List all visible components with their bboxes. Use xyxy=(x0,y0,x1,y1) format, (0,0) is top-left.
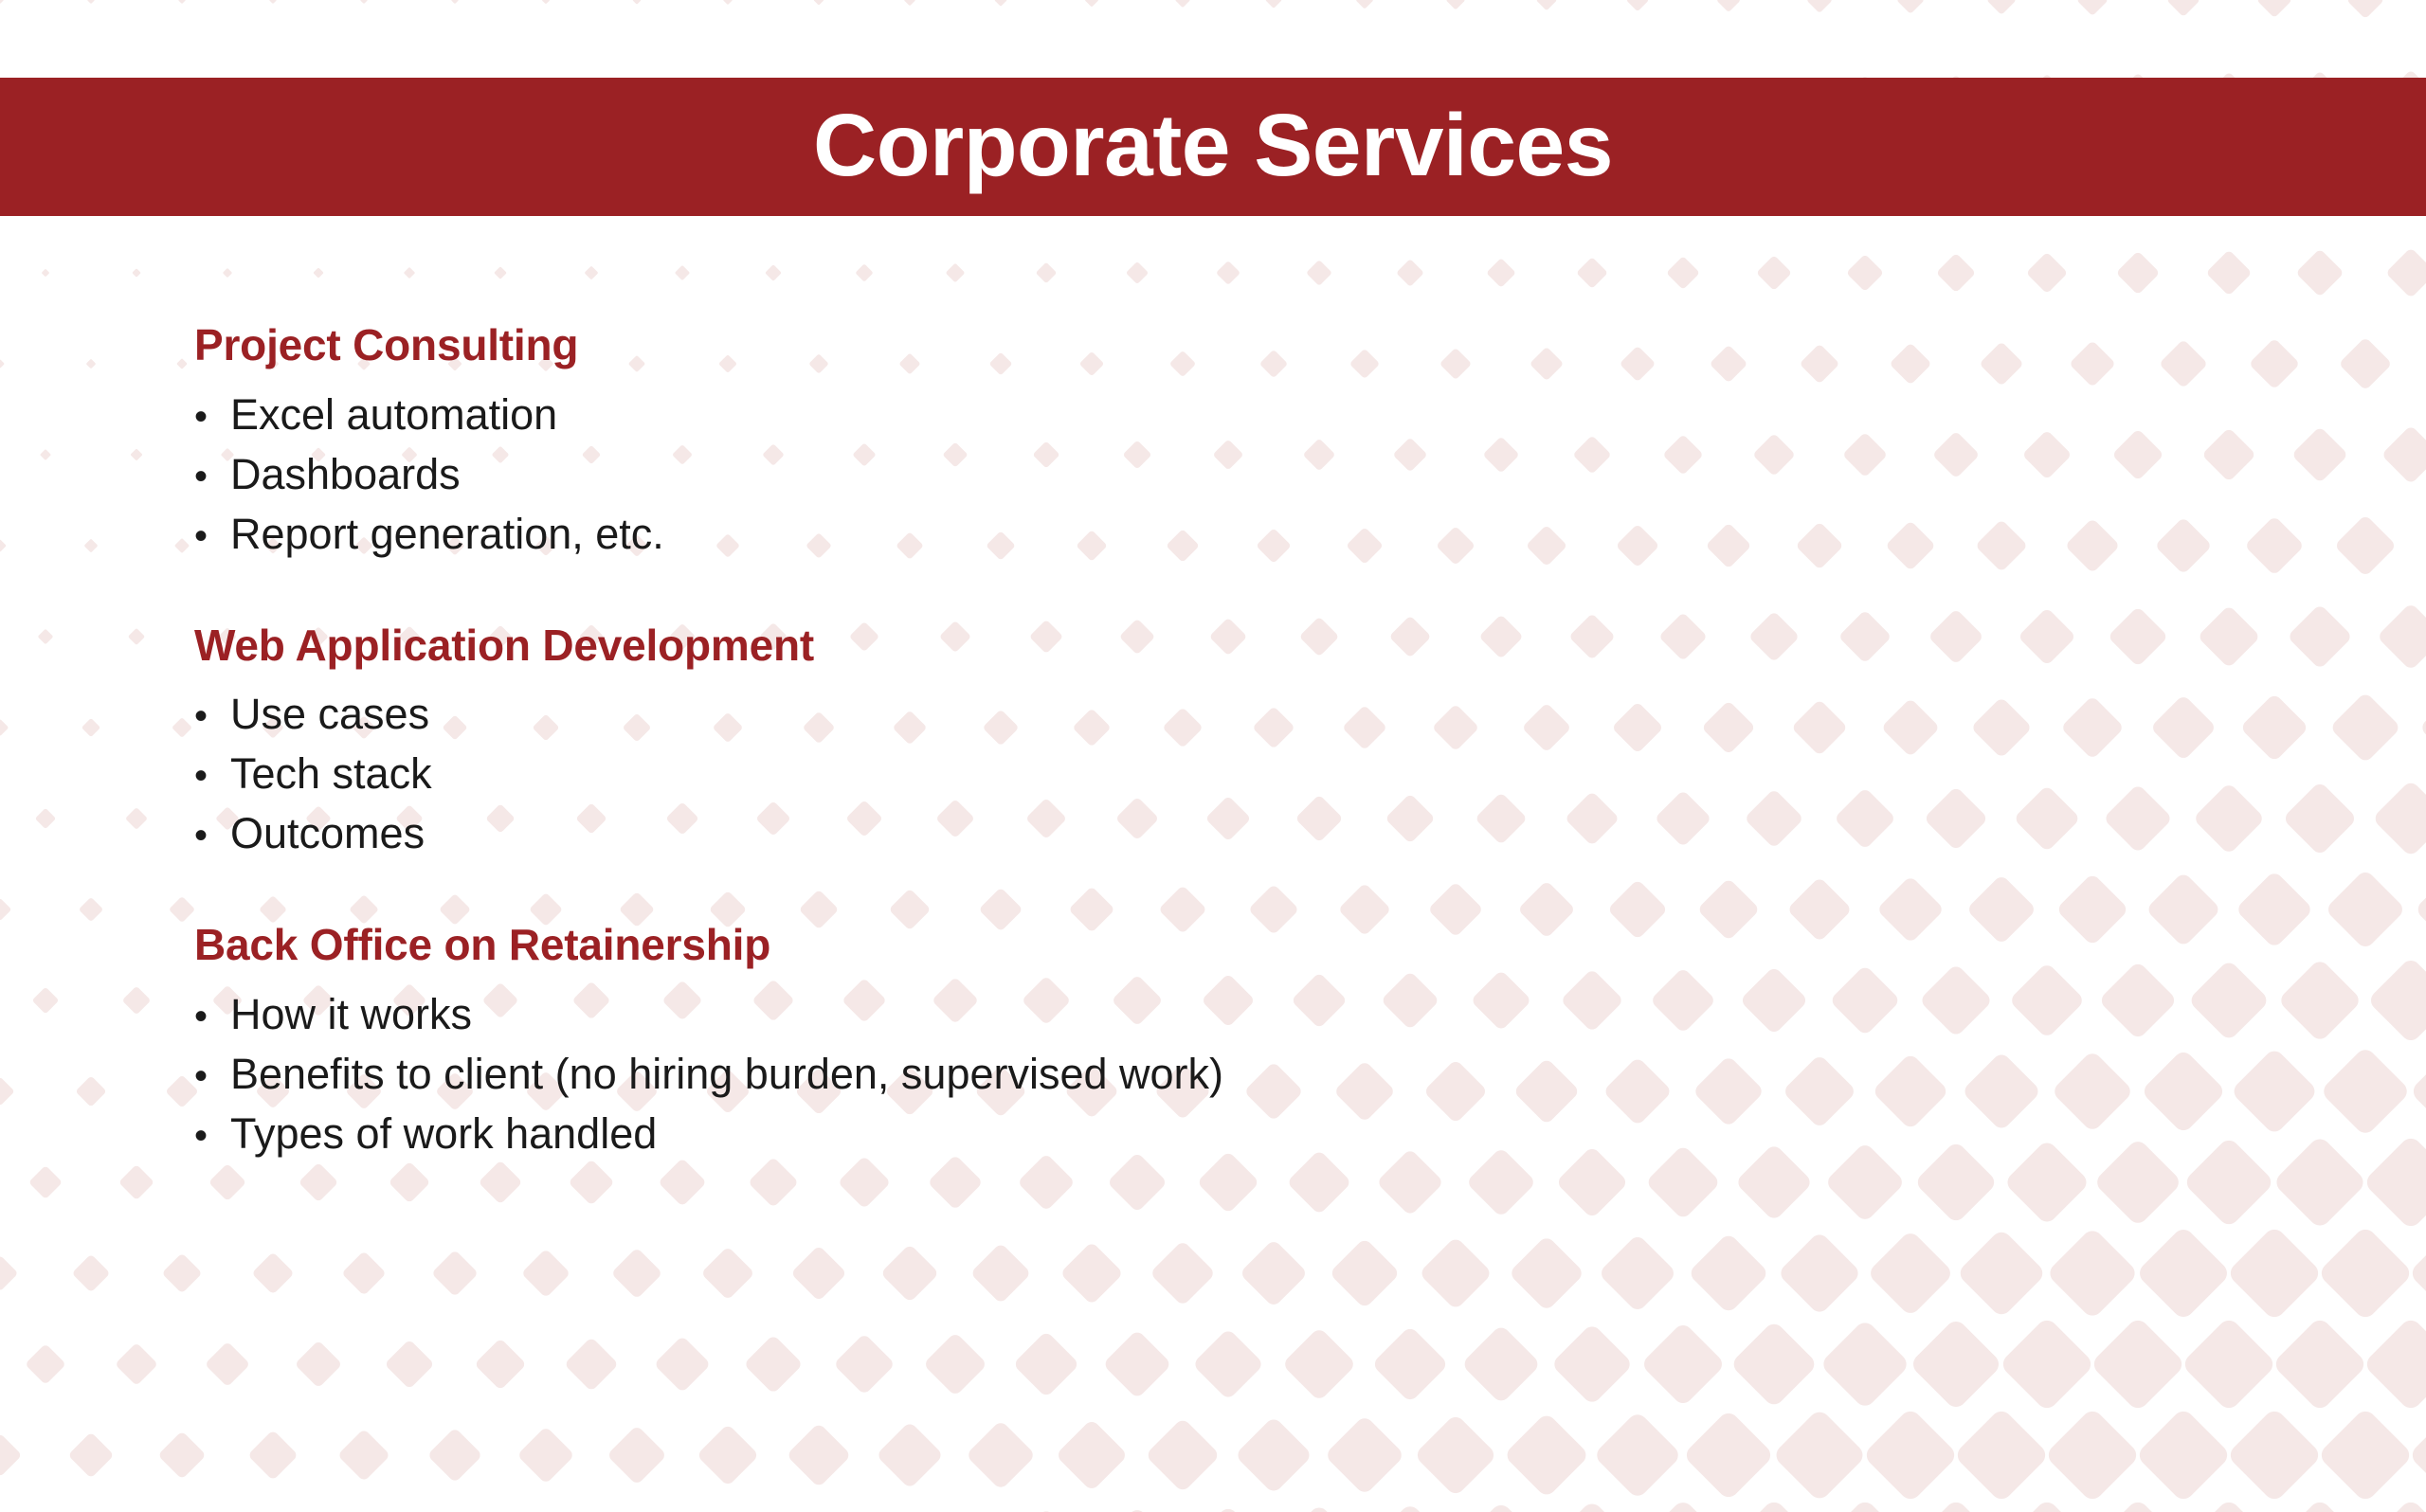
list-item-label: Excel automation xyxy=(230,393,557,436)
bullet-list: • Use cases • Tech stack • Outcomes xyxy=(194,684,2232,863)
section-heading: Project Consulting xyxy=(194,322,2232,369)
section-heading: Back Office on Retainership xyxy=(194,922,2232,969)
list-item: • Report generation, etc. xyxy=(194,504,2232,564)
list-item: • Tech stack xyxy=(194,744,2232,803)
bullet-point-icon: • xyxy=(194,998,230,1035)
list-item-label: Outcomes xyxy=(230,812,425,855)
list-item-label: How it works xyxy=(230,993,472,1035)
list-item-label: Use cases xyxy=(230,693,429,735)
list-item-label: Tech stack xyxy=(230,752,432,795)
bullet-point-icon: • xyxy=(194,1117,230,1155)
list-item: • How it works xyxy=(194,984,2232,1044)
list-item-label: Report generation, etc. xyxy=(230,513,664,555)
list-item-label: Types of work handled xyxy=(230,1112,657,1155)
slide-canvas: Corporate Services Project Consulting • … xyxy=(0,0,2426,1512)
bullet-point-icon: • xyxy=(194,398,230,436)
section-back-office-on-retainership: Back Office on Retainership • How it wor… xyxy=(194,922,2232,1163)
bullet-point-icon: • xyxy=(194,817,230,855)
bullet-point-icon: • xyxy=(194,1057,230,1095)
list-item-label: Benefits to client (no hiring burden, su… xyxy=(230,1053,1223,1095)
page-title: Corporate Services xyxy=(813,101,1613,189)
list-item: • Types of work handled xyxy=(194,1104,2232,1163)
content-area: Project Consulting • Excel automation • … xyxy=(194,322,2232,1163)
list-item: • Benefits to client (no hiring burden, … xyxy=(194,1044,2232,1104)
list-item: • Outcomes xyxy=(194,803,2232,863)
list-item: • Dashboards xyxy=(194,444,2232,504)
list-item: • Excel automation xyxy=(194,385,2232,444)
list-item: • Use cases xyxy=(194,684,2232,744)
bullet-list: • How it works • Benefits to client (no … xyxy=(194,984,2232,1163)
bullet-point-icon: • xyxy=(194,517,230,555)
list-item-label: Dashboards xyxy=(230,453,461,495)
section-heading: Web Application Development xyxy=(194,622,2232,670)
title-banner: Corporate Services xyxy=(0,78,2426,216)
section-web-application-development: Web Application Development • Use cases … xyxy=(194,622,2232,864)
bullet-point-icon: • xyxy=(194,757,230,795)
bullet-list: • Excel automation • Dashboards • Report… xyxy=(194,385,2232,564)
bullet-point-icon: • xyxy=(194,458,230,495)
section-project-consulting: Project Consulting • Excel automation • … xyxy=(194,322,2232,564)
bullet-point-icon: • xyxy=(194,697,230,735)
